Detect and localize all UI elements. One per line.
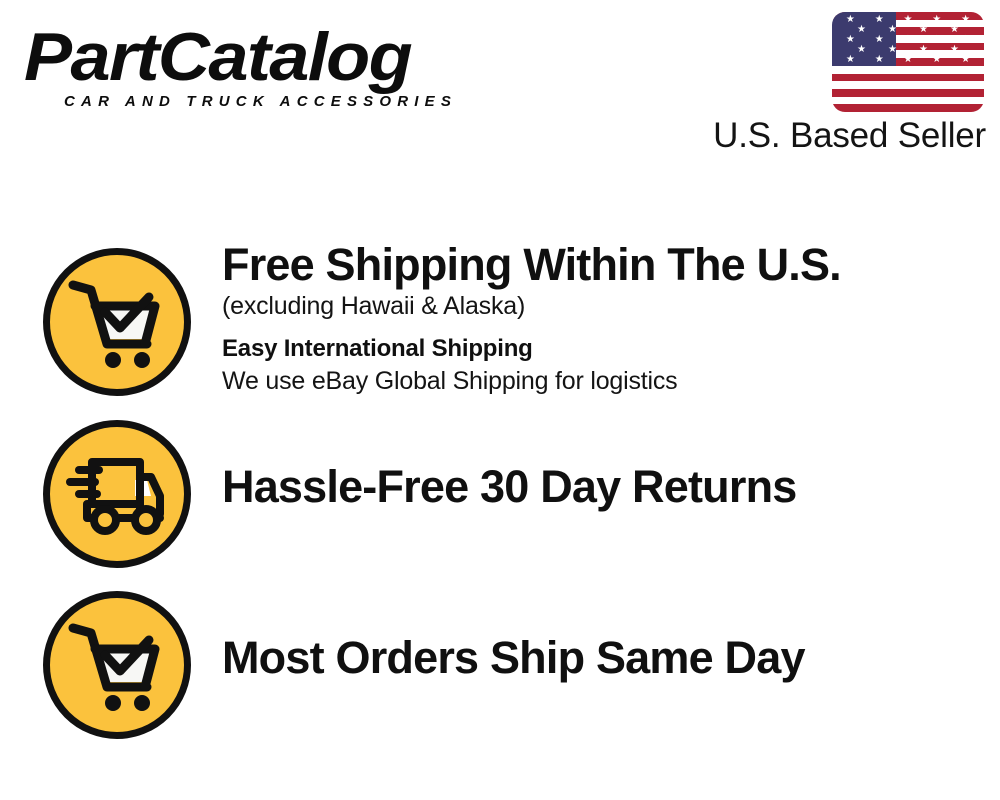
shopping-cart-check-icon xyxy=(43,248,191,396)
us-based-seller-badge: ★★★★★ ★★★★ ★★★★★ ★★★★ ★★★★★ U.S. Based S… xyxy=(686,12,986,156)
brand-tagline: CAR AND TRUCK ACCESSORIES xyxy=(64,93,494,110)
feature-text-free-shipping: Free Shipping Within The U.S. (excluding… xyxy=(222,240,982,398)
brand-wordmark: PartCatalog xyxy=(24,22,522,92)
us-based-seller-label: U.S. Based Seller xyxy=(686,116,986,156)
brand-logo: PartCatalog CAR AND TRUCK ACCESSORIES xyxy=(24,22,494,114)
feature-sub-heading: Easy International Shipping xyxy=(222,333,982,365)
feature-headline: Hassle-Free 30 Day Returns xyxy=(222,462,982,512)
feature-text-same-day-ship: Most Orders Ship Same Day xyxy=(222,633,982,683)
fast-delivery-truck-icon xyxy=(43,420,191,568)
shopping-cart-check-icon xyxy=(43,591,191,739)
feature-headline: Free Shipping Within The U.S. xyxy=(222,240,982,290)
us-flag-icon: ★★★★★ ★★★★ ★★★★★ ★★★★ ★★★★★ xyxy=(832,12,984,112)
feature-text-returns: Hassle-Free 30 Day Returns xyxy=(222,462,982,512)
feature-sub-detail: We use eBay Global Shipping for logistic… xyxy=(222,365,982,398)
feature-subline: (excluding Hawaii & Alaska) xyxy=(222,290,982,323)
promo-banner: PartCatalog CAR AND TRUCK ACCESSORIES ★★… xyxy=(0,0,1000,800)
feature-headline: Most Orders Ship Same Day xyxy=(222,633,982,683)
